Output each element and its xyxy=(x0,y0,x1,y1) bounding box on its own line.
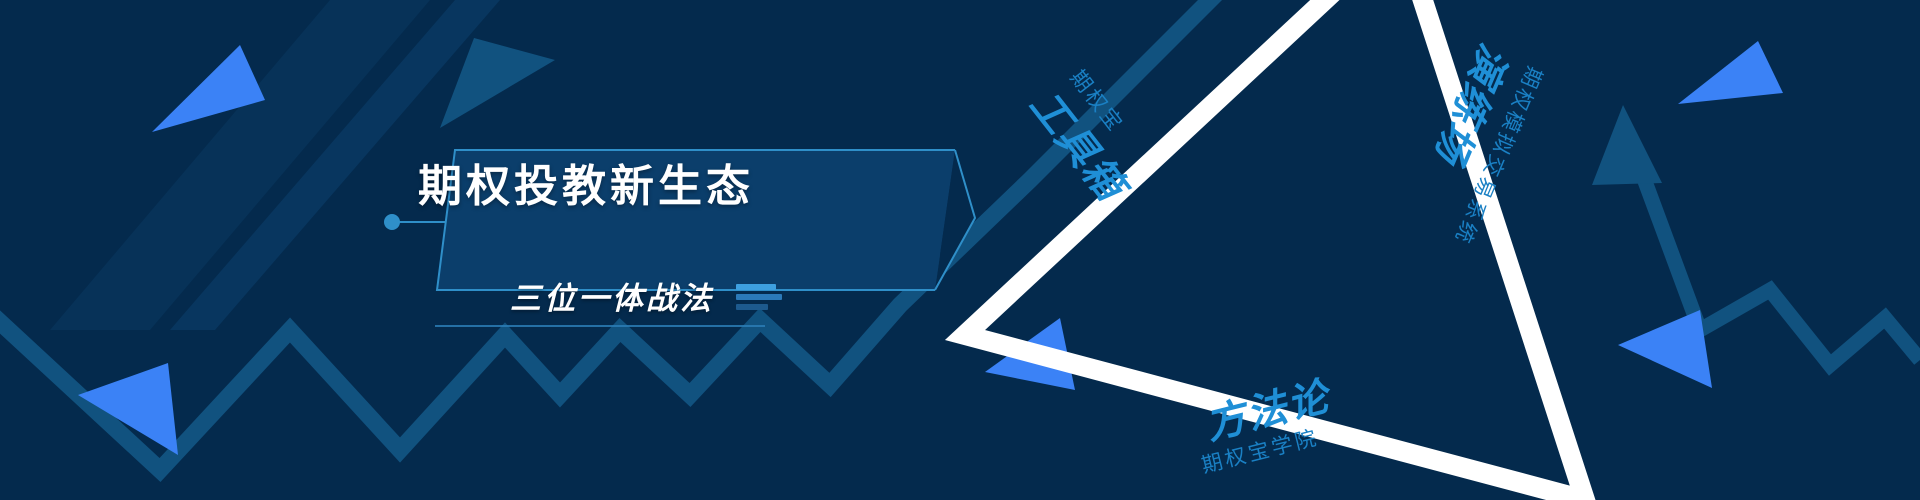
headline-block: 期权投教新生态 三位一体战法 xyxy=(380,125,1140,375)
subtitle: 三位一体战法 xyxy=(510,273,714,318)
subtitle-divider xyxy=(435,325,765,327)
bar-1 xyxy=(736,284,776,290)
page-title: 期权投教新生态 xyxy=(418,150,754,214)
banner-canvas: 期权投教新生态 三位一体战法 期权宝 工具箱 期权模拟交易系统 演练场 方法论 … xyxy=(0,0,1920,500)
subtitle-row: 三位一体战法 xyxy=(510,272,782,318)
three-bars-icon xyxy=(736,281,782,310)
bar-2 xyxy=(736,294,782,300)
bar-3 xyxy=(736,304,768,310)
